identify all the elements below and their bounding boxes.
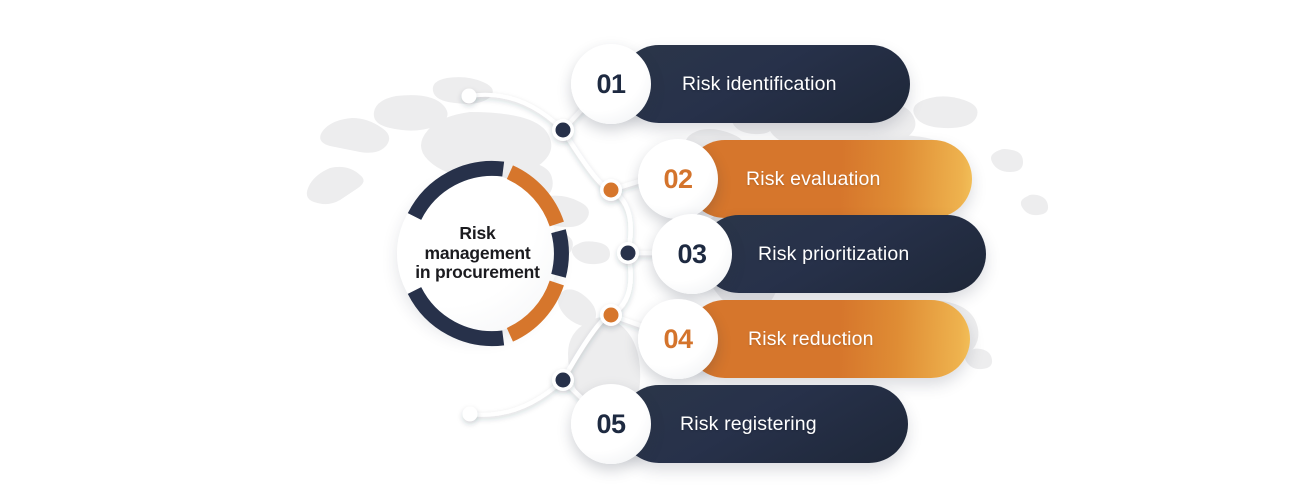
hub-title: Risk management in procurement xyxy=(383,159,572,348)
node-dot-04 xyxy=(604,308,619,323)
step-row-01[interactable]: Risk identification 01 xyxy=(620,45,920,123)
hub-medallion: Risk management in procurement xyxy=(383,159,572,348)
step-label-05: Risk registering xyxy=(680,413,817,436)
node-dot-05 xyxy=(556,373,571,388)
hub-title-line-3: in procurement xyxy=(415,263,540,283)
step-pill-04[interactable]: Risk reduction xyxy=(686,300,970,378)
step-pill-02[interactable]: Risk evaluation xyxy=(686,140,972,218)
hub-title-line-1: Risk xyxy=(459,224,495,244)
node-dot-02 xyxy=(604,183,619,198)
step-number-05: 05 xyxy=(596,409,625,440)
step-badge-01[interactable]: 01 xyxy=(571,44,651,124)
node-dot-03 xyxy=(621,246,636,261)
step-row-04[interactable]: Risk reduction 04 xyxy=(686,300,986,378)
step-label-04: Risk reduction xyxy=(748,328,874,351)
step-badge-04[interactable]: 04 xyxy=(638,299,718,379)
node-dot-01 xyxy=(556,123,571,138)
step-row-02[interactable]: Risk evaluation 02 xyxy=(686,140,986,218)
step-row-05[interactable]: Risk registering 05 xyxy=(620,385,920,463)
step-badge-03[interactable]: 03 xyxy=(652,214,732,294)
step-badge-05[interactable]: 05 xyxy=(571,384,651,464)
step-number-04: 04 xyxy=(663,324,692,355)
step-label-01: Risk identification xyxy=(682,73,837,96)
step-badge-02[interactable]: 02 xyxy=(638,139,718,219)
step-number-03: 03 xyxy=(677,239,706,270)
step-number-02: 02 xyxy=(663,164,692,195)
step-label-02: Risk evaluation xyxy=(746,168,880,191)
step-row-03[interactable]: Risk prioritization 03 xyxy=(700,215,1000,293)
step-pill-01[interactable]: Risk identification xyxy=(620,45,910,123)
hub-title-line-2: management xyxy=(425,244,531,264)
step-pill-05[interactable]: Risk registering xyxy=(620,385,908,463)
step-number-01: 01 xyxy=(596,69,625,100)
infographic-canvas: Risk management in procurement Risk iden… xyxy=(0,0,1300,500)
step-pill-03[interactable]: Risk prioritization xyxy=(700,215,986,293)
step-label-03: Risk prioritization xyxy=(758,243,909,266)
